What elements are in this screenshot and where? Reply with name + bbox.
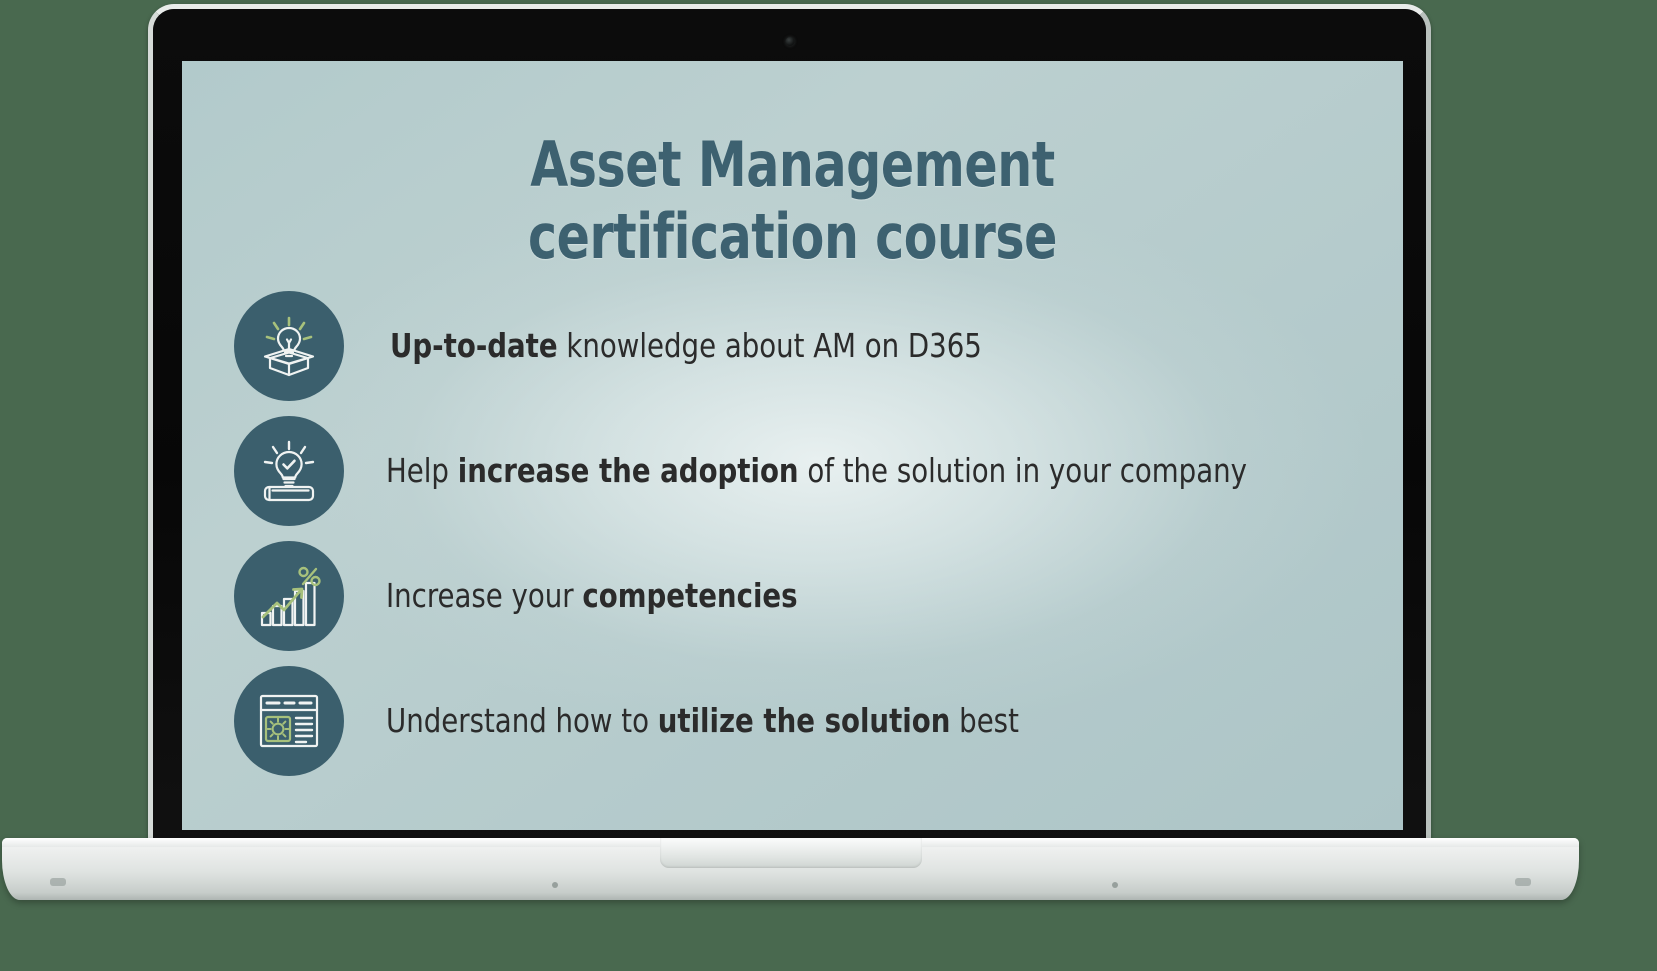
laptop-lid: Asset Management certification course xyxy=(148,4,1431,847)
lightbulb-in-open-box-icon xyxy=(234,291,344,401)
laptop-screen: Asset Management certification course xyxy=(182,61,1403,830)
lightbulb-check-on-book-icon xyxy=(234,416,344,526)
laptop-base-screw-right xyxy=(1112,882,1118,888)
laptop-base-screw-left xyxy=(552,882,558,888)
list-item: Up-to-date knowledge about AM on D365 xyxy=(234,283,1393,408)
list-item-label: Understand how to utilize the solution b… xyxy=(386,701,1019,741)
page-title: Asset Management certification course xyxy=(255,129,1329,273)
stage: Asset Management certification course xyxy=(0,0,1657,971)
laptop-foot-right xyxy=(1515,878,1531,886)
list-item-label: Up-to-date knowledge about AM on D365 xyxy=(390,326,982,366)
list-item-label: Help increase the adoption of the soluti… xyxy=(386,451,1247,491)
bullet-list: Up-to-date knowledge about AM on D365 xyxy=(234,283,1393,783)
presentation-slide: Asset Management certification course xyxy=(182,61,1403,830)
list-item: Understand how to utilize the solution b… xyxy=(234,658,1393,783)
list-item: Increase your competencies xyxy=(234,533,1393,658)
laptop-base-notch xyxy=(660,838,922,868)
growth-bar-chart-percent-icon xyxy=(234,541,344,651)
list-item-label: Increase your competencies xyxy=(386,576,798,616)
list-item: Help increase the adoption of the soluti… xyxy=(234,408,1393,533)
laptop-base xyxy=(2,838,1579,900)
browser-window-gear-icon xyxy=(234,666,344,776)
laptop-bezel: Asset Management certification course xyxy=(153,9,1426,847)
laptop-foot-left xyxy=(50,878,66,886)
webcam-dot xyxy=(785,37,794,46)
